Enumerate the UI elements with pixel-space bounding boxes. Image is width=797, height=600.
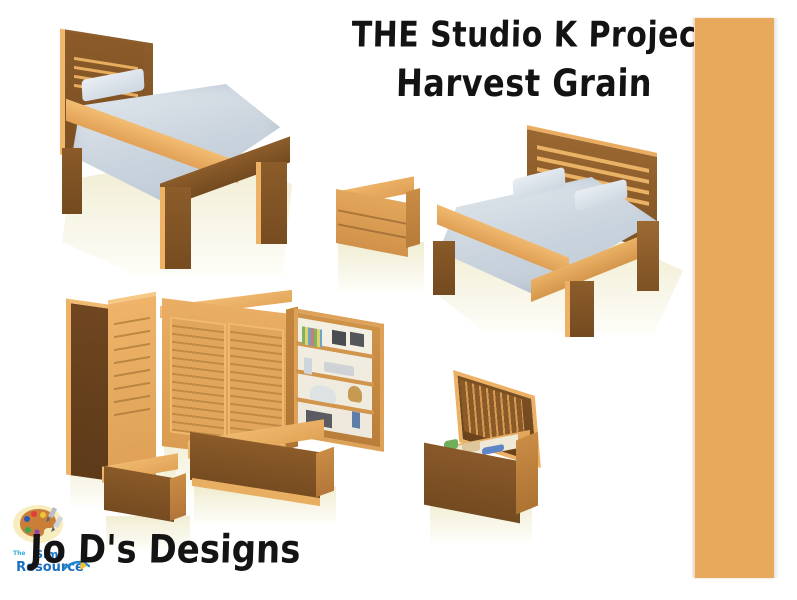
- single-bed-leg-back: [62, 148, 82, 214]
- double-bed-leg-right: [637, 221, 659, 291]
- single-bed-leg-right: [256, 162, 287, 244]
- designer-name: Jo D's Designs: [29, 527, 301, 573]
- nightstand-mid-side: [406, 188, 420, 248]
- page-subtitle: Harvest Grain: [351, 64, 697, 102]
- bookshelf-item-book-blue: [352, 411, 360, 428]
- double-bed-leg-front: [565, 281, 594, 337]
- dresser-long-side: [316, 447, 334, 498]
- wood-grain-swatch: [694, 18, 774, 578]
- wardrobe-left-door-slats: [114, 317, 150, 423]
- bookshelf-item-book-thin: [304, 357, 312, 374]
- toy-chest: [422, 382, 552, 542]
- wardrobe-right-louvre-left: [170, 317, 226, 440]
- single-bed-leg-left: [160, 187, 191, 269]
- watermark: The Sims Resource Jo D's Designs: [8, 502, 278, 594]
- bookshelf-item-box-a: [332, 330, 346, 346]
- bookshelf-item-box-b: [350, 332, 364, 347]
- page-title: THE Studio K Project: [351, 18, 697, 53]
- swatch-edge-highlight: [774, 18, 778, 578]
- nightstand-mid: [334, 182, 434, 292]
- double-bed-leg-left: [433, 241, 455, 295]
- bookshelf-item-books: [302, 326, 322, 348]
- single-bed: [48, 22, 308, 282]
- toy-chest-side: [516, 432, 538, 515]
- double-bed: [425, 135, 697, 335]
- title-block: THE Studio K Project Harvest Grain: [352, 18, 697, 96]
- preview-canvas: THE Studio K Project Harvest Grain: [0, 0, 797, 600]
